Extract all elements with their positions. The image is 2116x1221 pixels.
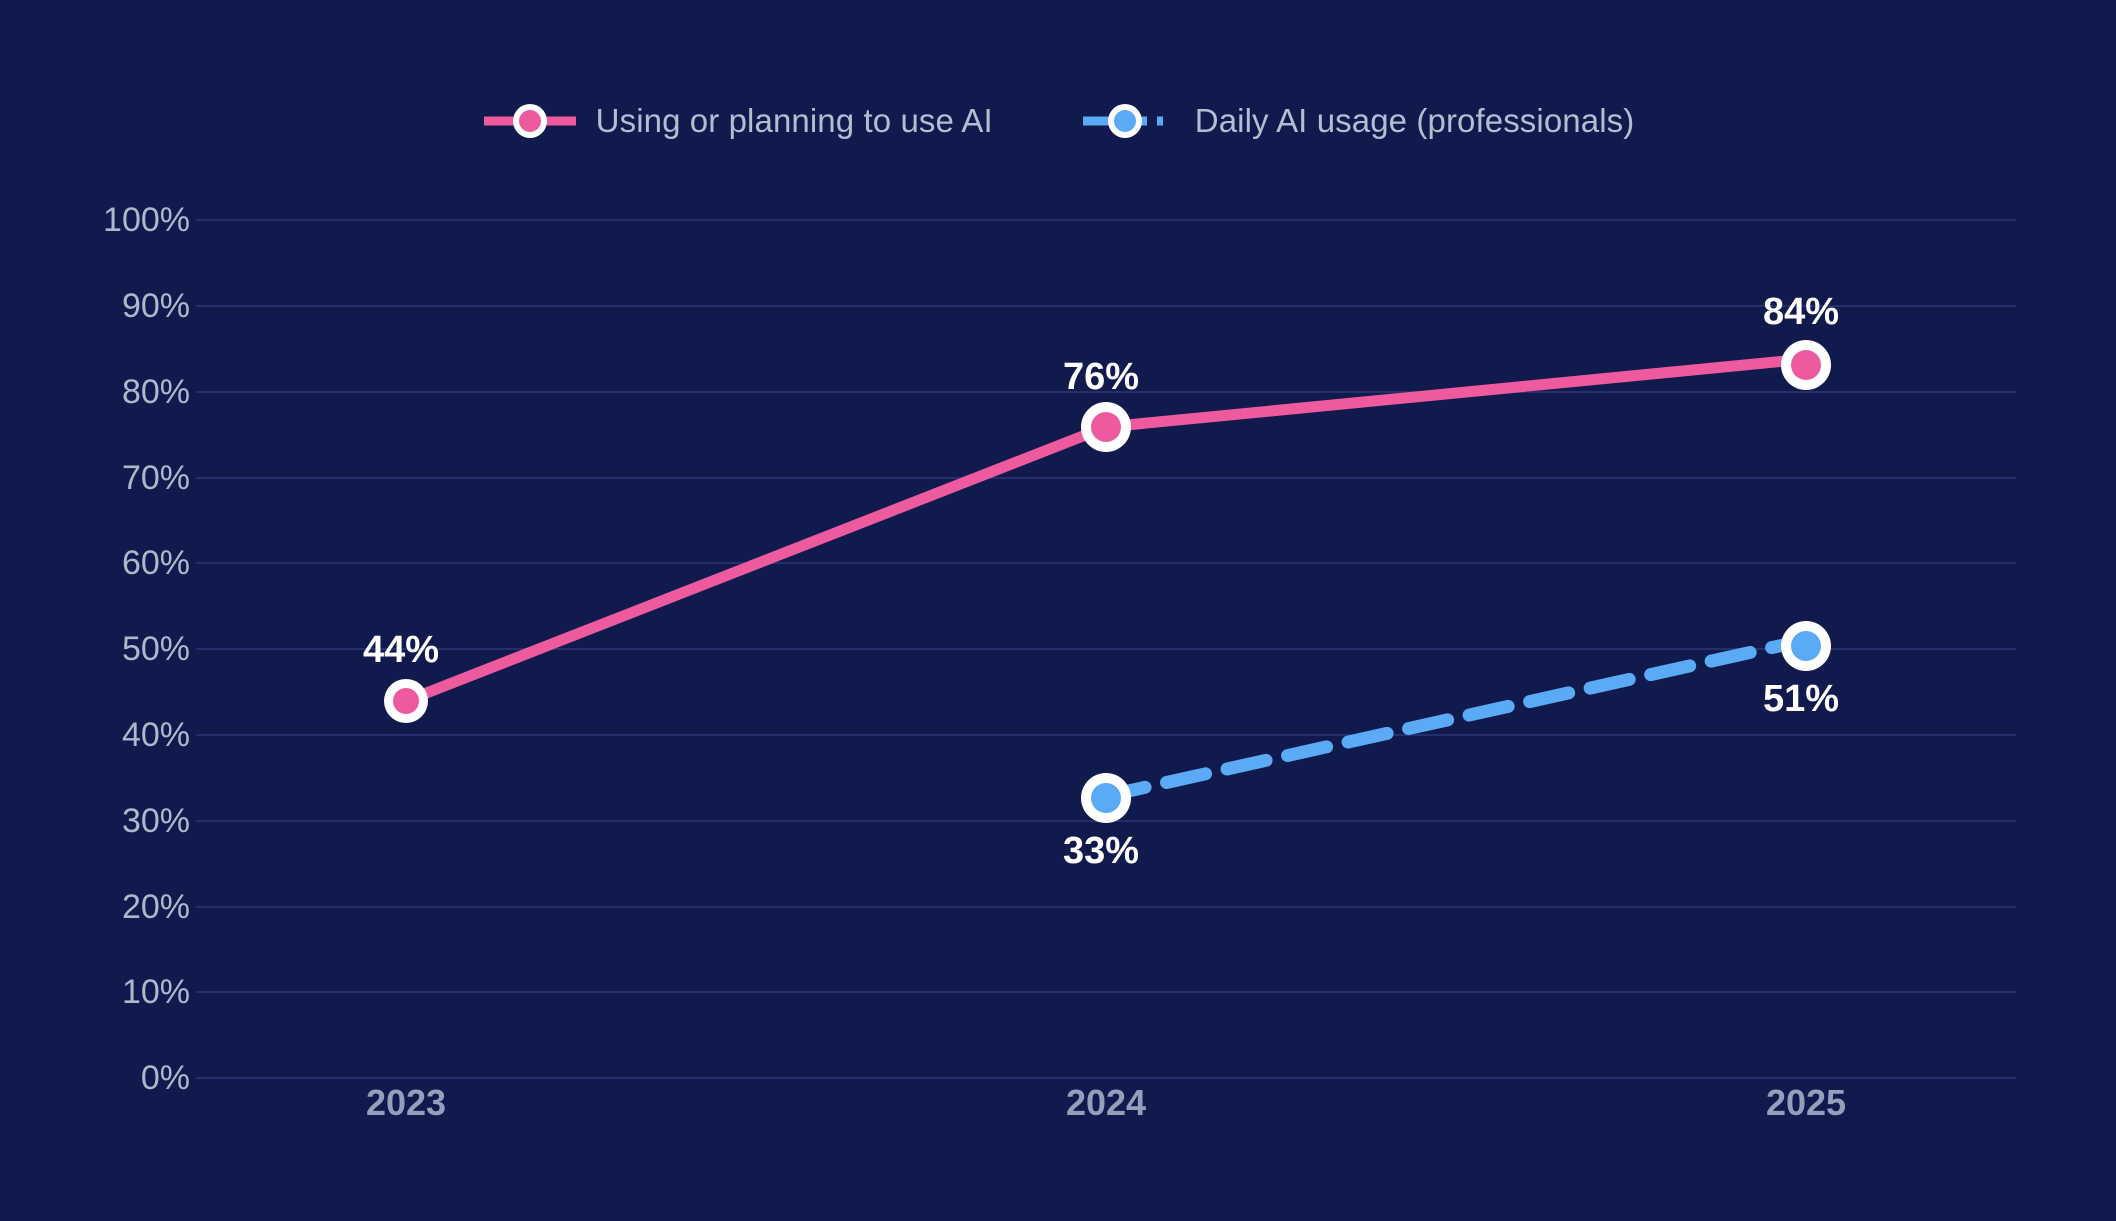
x-tick-label-2023: 2023	[286, 1085, 526, 1121]
legend-label-daily-usage: Daily AI usage (professionals)	[1195, 101, 1635, 141]
gridline-20	[196, 906, 2016, 908]
gridline-70	[196, 477, 2016, 479]
legend-label-using-or-planning: Using or planning to use AI	[596, 101, 993, 141]
legend-dashed-line-marker-icon	[1081, 101, 1177, 141]
legend-item-using-or-planning[interactable]: Using or planning to use AI	[482, 101, 993, 141]
y-tick-label-60: 60%	[60, 546, 190, 580]
legend-item-daily-usage[interactable]: Daily AI usage (professionals)	[1081, 101, 1635, 141]
data-label-blue-2024: 33%	[1063, 832, 1139, 870]
chart-legend: Using or planning to use AI Daily AI usa…	[0, 96, 2116, 146]
data-label-blue-2025: 51%	[1763, 680, 1839, 718]
data-label-pink-2025: 84%	[1763, 293, 1839, 331]
y-tick-label-40: 40%	[60, 718, 190, 752]
x-tick-label-2024: 2024	[986, 1085, 1226, 1121]
y-tick-label-80: 80%	[60, 375, 190, 409]
line-chart: Using or planning to use AI Daily AI usa…	[0, 0, 2116, 1221]
y-tick-label-20: 20%	[60, 890, 190, 924]
data-label-pink-2024: 76%	[1063, 358, 1139, 396]
plot-area	[196, 219, 2016, 1077]
x-tick-label-2025: 2025	[1686, 1085, 1926, 1121]
y-tick-label-70: 70%	[60, 461, 190, 495]
gridline-10	[196, 991, 2016, 993]
data-label-pink-2023: 44%	[363, 631, 439, 669]
gridline-90	[196, 305, 2016, 307]
gridline-30	[196, 820, 2016, 822]
gridline-40	[196, 734, 2016, 736]
legend-solid-line-marker-icon	[482, 101, 578, 141]
y-tick-label-100: 100%	[60, 203, 190, 237]
y-tick-label-0: 0%	[60, 1061, 190, 1095]
y-tick-label-50: 50%	[60, 632, 190, 666]
gridline-50	[196, 648, 2016, 650]
gridline-0	[196, 1077, 2016, 1079]
gridline-60	[196, 562, 2016, 564]
y-tick-label-30: 30%	[60, 804, 190, 838]
gridline-100	[196, 219, 2016, 221]
y-tick-label-10: 10%	[60, 975, 190, 1009]
y-tick-label-90: 90%	[60, 289, 190, 323]
